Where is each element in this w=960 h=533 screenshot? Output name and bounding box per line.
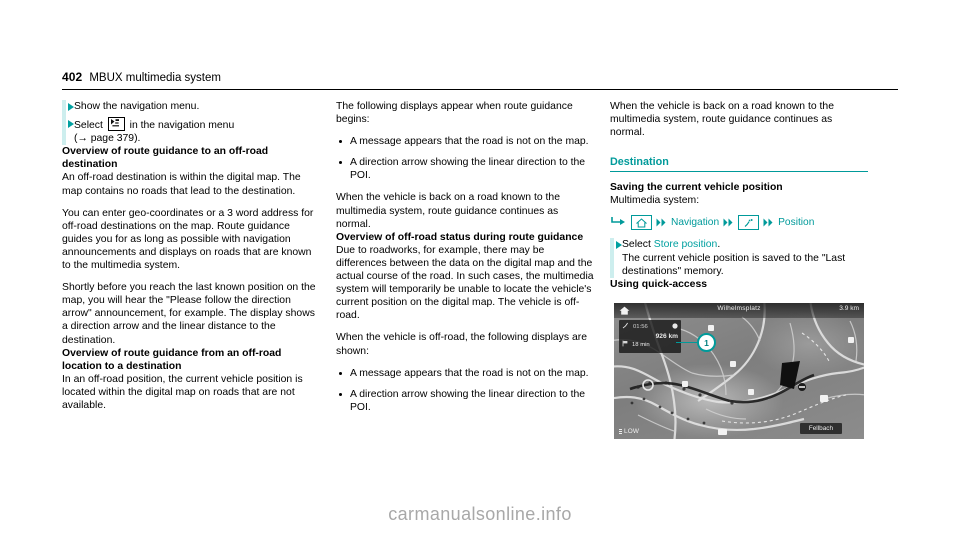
step-arrow-icon (616, 241, 622, 249)
paragraph: Multimedia system: (610, 194, 868, 207)
step-arrow-icon (68, 103, 74, 111)
step-list-left: Show the navigation menu. Select (62, 100, 320, 145)
column-middle: The following displays appear when route… (336, 100, 594, 414)
manual-page: 402 MBUX multimedia system Show the navi… (0, 0, 960, 533)
map-remaining-time: 18 min (632, 342, 650, 350)
heading-offroad-status: Overview of off-road status during route… (336, 231, 594, 244)
breadcrumb: Navigation Position (610, 215, 868, 230)
step-list-right: Select Store position. The current vehic… (610, 238, 868, 277)
heading-using-quick-access: Using quick-access (610, 278, 868, 291)
heading-route-guidance-offroad-destination: Overview of route guidance to an off-roa… (62, 145, 320, 171)
page-header: 402 MBUX multimedia system (62, 70, 898, 92)
map-traffic-status: LOW (619, 428, 639, 435)
step-detail: The current vehicle position is saved to… (622, 253, 845, 277)
paragraph: Shortly before you reach the last known … (62, 281, 320, 346)
enter-arrow-icon (610, 216, 627, 230)
paragraph: The following displays appear when route… (336, 100, 594, 126)
home-icon[interactable] (631, 215, 652, 230)
map-traffic-status-label: LOW (624, 428, 639, 435)
column-right: When the vehicle is back on a road known… (610, 100, 868, 291)
section-heading-destination: Destination (610, 156, 868, 172)
map-info-badge (672, 323, 678, 333)
watermark: carmanualsonline.info (0, 504, 960, 525)
map-street-label: Wilhelmsplatz (717, 305, 760, 312)
step-text: Show the navigation menu. (74, 100, 320, 113)
callout-number: 1 (697, 333, 716, 352)
step-item: Show the navigation menu. (62, 100, 320, 113)
home-icon[interactable] (617, 305, 632, 316)
paragraph: When the vehicle is off-road, the follow… (336, 331, 594, 357)
breadcrumb-item-position[interactable]: Position (778, 217, 814, 228)
paragraph: When the vehicle is back on a road known… (336, 191, 594, 230)
paragraph: Due to roadworks, for example, there may… (336, 244, 594, 323)
step-text-before-icon: Select (74, 120, 103, 131)
bullet-list-route-begins: A message appears that the road is not o… (336, 135, 594, 182)
paragraph: An off-road destination is within the di… (62, 171, 320, 197)
signal-bars-icon (619, 429, 622, 434)
page-reference: (→ page 379). (74, 133, 140, 144)
map-destination-label: Fellbach (800, 423, 842, 434)
heading-saving-vehicle-position: Saving the current vehicle position (610, 181, 868, 194)
flag-icon (622, 340, 629, 351)
breadcrumb-item-navigation[interactable]: Navigation (671, 217, 719, 228)
navigation-map-screenshot: Wilhelmsplatz 3.9 km 01:56 926 km (614, 303, 864, 439)
header-divider (62, 89, 898, 90)
paragraph: When the vehicle is back on a road known… (610, 100, 868, 139)
route-icon (622, 322, 630, 333)
step-item: Select in the navigation menu (→ page 37… (62, 117, 320, 145)
step-text-before-link: Select (622, 239, 651, 250)
step-text: Select Store position. The current vehic… (622, 238, 868, 277)
map-arrival-time: 01:56 (633, 324, 648, 332)
list-item: A direction arrow showing the linear dir… (336, 156, 594, 182)
list-item: A direction arrow showing the linear dir… (336, 388, 594, 414)
step-text-after-icon: in the navigation menu (130, 120, 235, 131)
step-text-after-link: . (717, 239, 720, 250)
bullet-list-offroad-displays: A message appears that the road is not o… (336, 367, 594, 414)
callout-leader-line (676, 342, 698, 344)
step-text: Select in the navigation menu (→ page 37… (74, 117, 320, 145)
navigation-menu-icon (108, 117, 125, 131)
route-position-icon[interactable] (738, 215, 759, 230)
double-chevron-right-icon (723, 218, 734, 227)
page-number: 402 (62, 70, 82, 84)
paragraph: In an off-road position, the current veh… (62, 373, 320, 412)
page-title: MBUX multimedia system (89, 72, 221, 84)
column-left: Show the navigation menu. Select (62, 100, 320, 412)
map-distance-label: 3.9 km (839, 305, 859, 312)
heading-route-guidance-from-offroad: Overview of route guidance from an off-r… (62, 347, 320, 373)
store-position-link[interactable]: Store position (654, 239, 718, 250)
step-item: Select Store position. The current vehic… (610, 238, 868, 277)
step-arrow-icon (68, 120, 74, 128)
double-chevron-right-icon (763, 218, 774, 227)
list-item: A message appears that the road is not o… (336, 135, 594, 148)
figure-callout-1: 1 (676, 333, 716, 352)
map-remaining-distance: 926 km (622, 333, 678, 341)
map-route-info-box: 01:56 926 km 18 min (619, 320, 681, 353)
double-chevron-right-icon (656, 218, 667, 227)
paragraph: You can enter geo-coordinates or a 3 wor… (62, 207, 320, 272)
list-item: A message appears that the road is not o… (336, 367, 594, 380)
